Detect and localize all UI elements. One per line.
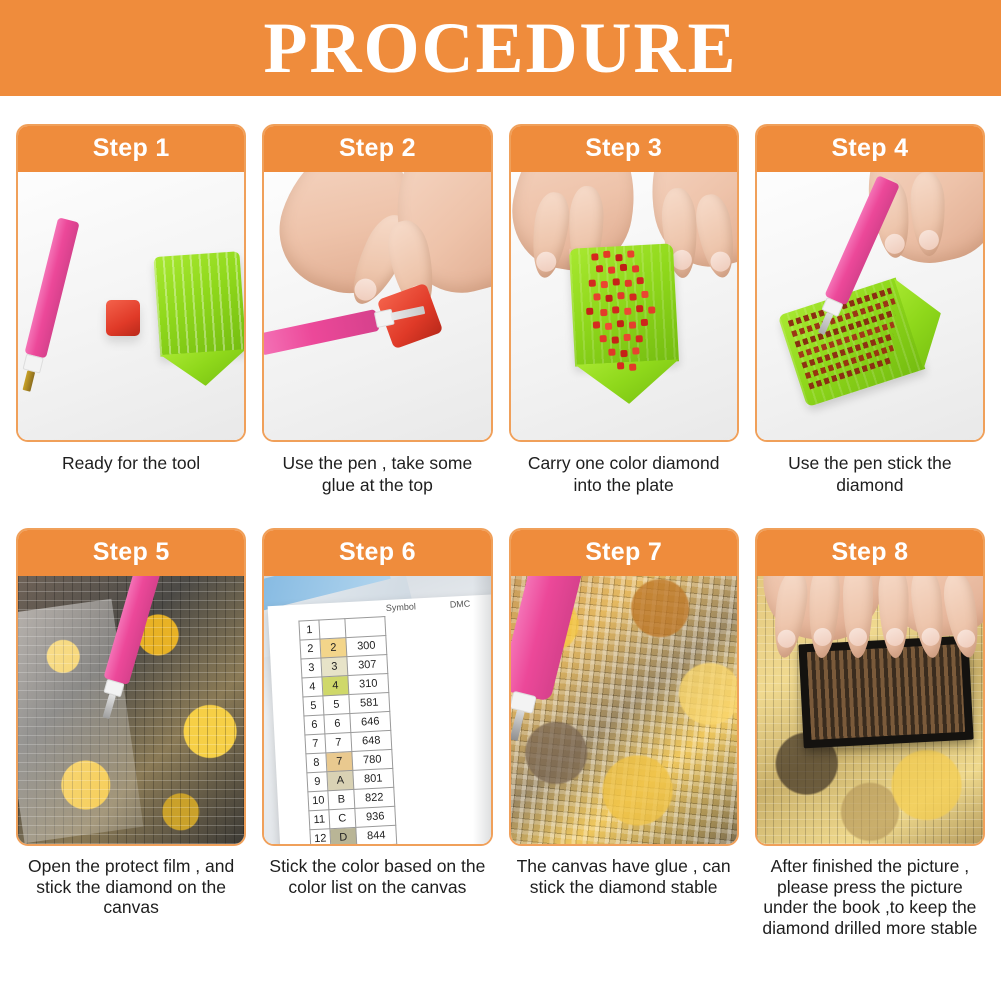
row-code: 822 [354, 787, 395, 808]
chart-column-header-dmc: DMC [450, 599, 471, 610]
diamond-rows [777, 270, 954, 421]
step-cell-8: Step 8 [755, 528, 985, 939]
step-card-2: Step 2 [262, 124, 492, 442]
step-image-3 [511, 172, 737, 440]
step-card-3: Step 3 [509, 124, 739, 442]
row-code: 646 [350, 711, 391, 732]
step-caption-3: Carry one color diamond into the plate [509, 442, 739, 520]
scene-canvas-film [18, 576, 244, 844]
glue-block [106, 300, 140, 336]
step-image-8 [757, 576, 983, 844]
row-index: 4 [302, 677, 323, 697]
row-symbol: 7 [325, 733, 352, 753]
row-symbol: C [329, 808, 356, 828]
step-cell-6: Step 6 Symbol DMC [262, 528, 492, 939]
procedure-poster: PROCEDURE Step 1 [0, 0, 1001, 1001]
step-badge-8: Step 8 [757, 530, 983, 576]
step-image-5 [18, 576, 244, 844]
step-cell-4: Step 4 [755, 124, 985, 520]
step-badge-6: Step 6 [264, 530, 490, 576]
step-cell-5: Step 5 Open the protect [16, 528, 246, 939]
chart-column-header-symbol: Symbol [386, 601, 416, 613]
row-symbol: 2 [320, 638, 347, 658]
row-symbol: 7 [326, 751, 353, 771]
step-card-7: Step 7 [509, 528, 739, 846]
step-caption-4: Use the pen stick the diamond [755, 442, 985, 520]
page-title: PROCEDURE [263, 12, 737, 84]
scene-canvas-glue [511, 576, 737, 844]
row-index: 5 [303, 696, 324, 716]
row-symbol: D [330, 827, 357, 844]
row-code: 307 [347, 655, 388, 676]
step-card-5: Step 5 [16, 528, 246, 846]
row-code [345, 617, 386, 638]
scene-color-chart: Symbol DMC 1 22300 33307 44310 5558 [264, 576, 490, 844]
row-index: 1 [299, 620, 320, 640]
scene-pen-stick [757, 172, 983, 440]
step-image-4 [757, 172, 983, 440]
scene-pen-glue [264, 172, 490, 440]
step-card-8: Step 8 [755, 528, 985, 846]
step-cell-7: Step 7 The canvas have g [509, 528, 739, 939]
step-cell-3: Step 3 [509, 124, 739, 520]
step-caption-2: Use the pen , take some glue at the top [262, 442, 492, 520]
row-index: 8 [306, 753, 327, 773]
scene-press-book [757, 576, 983, 844]
row-symbol: 6 [324, 714, 351, 734]
step-card-4: Step 4 [755, 124, 985, 442]
row-code: 936 [355, 806, 396, 827]
row-symbol: 4 [322, 676, 349, 696]
row-code: 801 [353, 768, 394, 789]
step-card-1: Step 1 [16, 124, 246, 442]
step-cell-1: Step 1 [16, 124, 246, 520]
diamond-tray [154, 251, 245, 389]
row-code: 310 [348, 673, 389, 694]
row-index: 11 [309, 810, 330, 830]
scene-tool-kit [18, 172, 244, 440]
row-index: 9 [307, 772, 328, 792]
scene-diamonds-plate [511, 172, 737, 440]
step-image-1 [18, 172, 244, 440]
row-symbol: A [327, 770, 354, 790]
step-image-2 [264, 172, 490, 440]
step-caption-6: Stick the color based on the color list … [262, 846, 492, 924]
diamond-tray [777, 270, 954, 421]
row-index: 12 [310, 829, 331, 844]
row-symbol [319, 619, 346, 639]
desk-shadow [473, 576, 491, 844]
row-index: 6 [304, 715, 325, 735]
step-badge-3: Step 3 [511, 126, 737, 172]
step-image-6: Symbol DMC 1 22300 33307 44310 5558 [264, 576, 490, 844]
chart-table: 1 22300 33307 44310 55581 66646 77648 87… [299, 616, 402, 844]
book-inner-artwork [807, 644, 965, 740]
step-caption-5: Open the protect film , and stick the di… [16, 846, 246, 924]
step-badge-4: Step 4 [757, 126, 983, 172]
row-index: 3 [301, 658, 322, 678]
diamond-pen [18, 217, 80, 393]
step-caption-8: After finished the picture , please pres… [755, 846, 985, 939]
row-code: 780 [352, 749, 393, 770]
step-caption-1: Ready for the tool [16, 442, 246, 520]
step-caption-7: The canvas have glue , can stick the dia… [509, 846, 739, 924]
chart-table-body: 1 22300 33307 44310 55581 66646 77648 87… [299, 617, 401, 844]
steps-grid: Step 1 [0, 96, 1001, 939]
step-cell-2: Step 2 [262, 124, 492, 520]
row-symbol: 3 [321, 657, 348, 677]
step-badge-2: Step 2 [264, 126, 490, 172]
diamond-tray [568, 243, 680, 406]
row-symbol: B [328, 789, 355, 809]
row-code: 300 [346, 636, 387, 657]
step-badge-5: Step 5 [18, 530, 244, 576]
row-index: 2 [300, 639, 321, 659]
table-row: 12D844 [310, 825, 397, 844]
step-image-7 [511, 576, 737, 844]
step-badge-1: Step 1 [18, 126, 244, 172]
row-code: 581 [349, 692, 390, 713]
row-index: 7 [305, 734, 326, 754]
row-symbol: 5 [323, 695, 350, 715]
color-list-sheet: Symbol DMC 1 22300 33307 44310 5558 [268, 594, 491, 844]
step-badge-7: Step 7 [511, 530, 737, 576]
color-chart-table: 1 22300 33307 44310 55581 66646 77648 87… [299, 616, 402, 844]
row-code: 648 [351, 730, 392, 751]
red-diamond-pile [568, 243, 680, 406]
row-index: 10 [308, 791, 329, 811]
row-code: 844 [356, 825, 397, 844]
poster-header: PROCEDURE [0, 0, 1001, 96]
step-card-6: Step 6 Symbol DMC [262, 528, 492, 846]
